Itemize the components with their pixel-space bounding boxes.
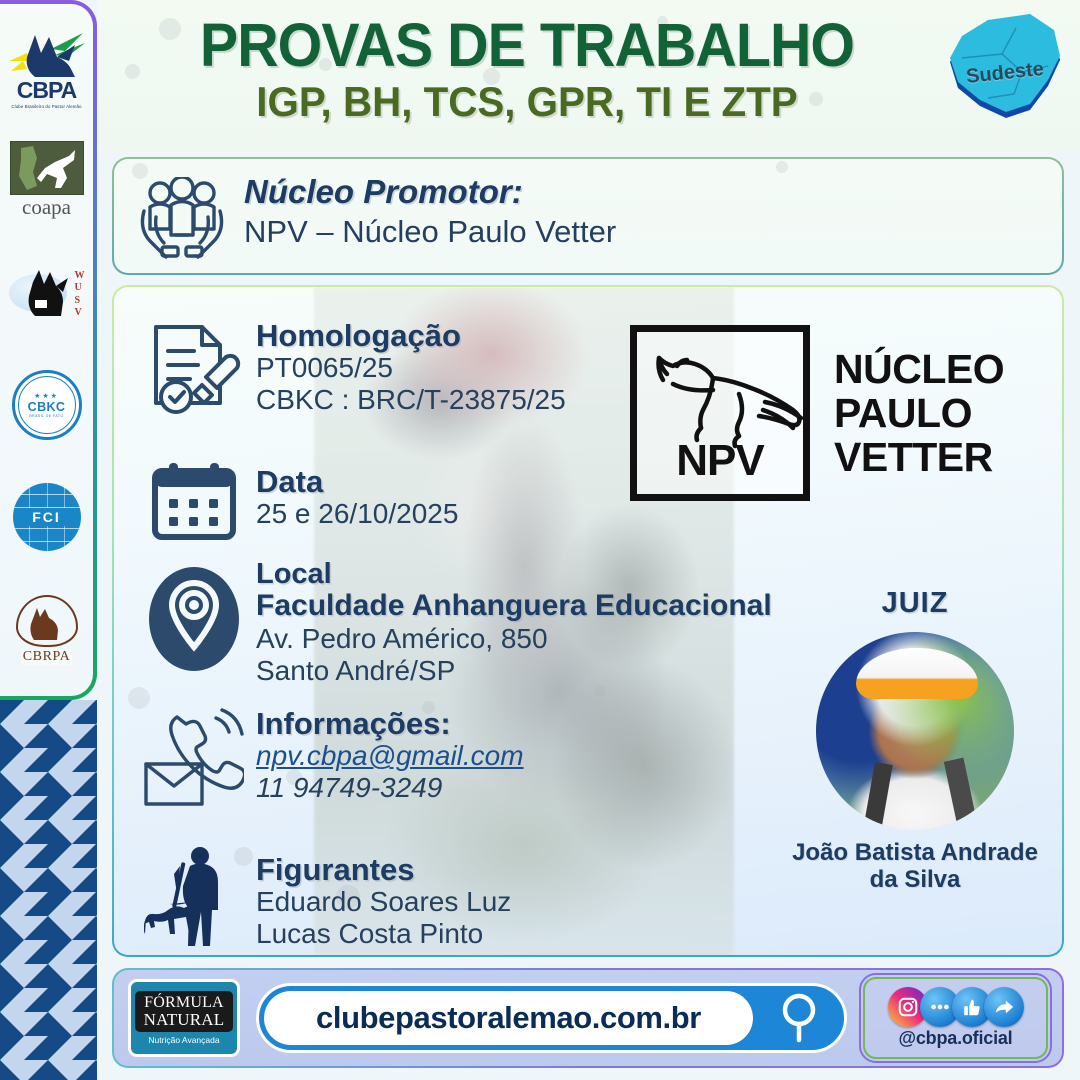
local-label: Local <box>256 559 772 590</box>
judge-block: JUIZ João Batista Andrade da Silva <box>786 587 1044 894</box>
cbrpa-dog-icon <box>25 606 71 644</box>
cbpa-sublabel: Clube Brasileiro do Pastor Alemão <box>5 104 89 109</box>
npv-line1: NÚCLEO <box>834 347 1004 391</box>
npv-logo: NPV NÚCLEO PAULO VETTER <box>630 323 1030 503</box>
promoter-value: NPV – Núcleo Paulo Vetter <box>244 214 616 250</box>
header-title-block: PROVAS DE TRABALHO IGP, BH, TCS, GPR, TI… <box>97 14 957 124</box>
location-pin-icon <box>142 559 246 679</box>
figurantes-label: Figurantes <box>256 853 511 886</box>
judge-strap-left <box>864 762 893 830</box>
sidebar-logos: CBPA Clube Brasileiro do Pastor Alemão c… <box>0 0 97 700</box>
footer-bar: FÓRMULA NATURAL Nutrição Avançada clubep… <box>112 968 1064 1068</box>
sponsor-line1: FÓRMULA <box>137 995 231 1011</box>
group-hands-icon <box>136 177 228 261</box>
sponsor-tagline: Nutrição Avançada <box>148 1035 219 1045</box>
judge-cap <box>856 648 979 699</box>
homologacao-line1: PT0065/25 <box>256 352 566 384</box>
promoter-text: Núcleo Promotor: NPV – Núcleo Paulo Vett… <box>244 173 616 250</box>
cbkc-logo: ★★★ CBKC BRASIL DE FATO <box>6 355 88 455</box>
sponsor-line2: NATURAL <box>137 1011 231 1029</box>
promoter-panel: Núcleo Promotor: NPV – Núcleo Paulo Vett… <box>112 157 1064 275</box>
row-local: Local Faculdade Anhanguera Educacional A… <box>142 559 772 687</box>
npv-dog-outline-icon <box>643 340 803 450</box>
cbpa-dog-head-icon <box>5 27 89 79</box>
cbpa-label: CBPA <box>5 79 89 102</box>
local-address: Av. Pedro Américo, 850 <box>256 623 772 655</box>
cbrpa-logo: CBRPA <box>6 580 88 680</box>
informacoes-label: Informações: <box>256 707 524 740</box>
sponsor-formula-natural-logo: FÓRMULA NATURAL Nutrição Avançada <box>128 979 240 1057</box>
social-icons <box>888 987 1024 1027</box>
local-city: Santo André/SP <box>256 655 772 687</box>
row-homologacao: Homologação PT0065/25 CBKC : BRC/T-23875… <box>142 315 566 423</box>
judge-name: João Batista Andrade da Silva <box>786 840 1044 894</box>
search-icon[interactable] <box>761 992 839 1044</box>
npv-line2: PAULO <box>834 391 1004 435</box>
fci-label: FCI <box>28 508 65 526</box>
social-badge[interactable]: @cbpa.oficial <box>863 977 1048 1059</box>
informacoes-phone: 11 94749-3249 <box>256 772 524 804</box>
local-venue: Faculdade Anhanguera Educacional <box>256 590 772 622</box>
promoter-label: Núcleo Promotor: <box>244 173 616 211</box>
judge-title: JUIZ <box>786 587 1044 620</box>
coapa-logo: coapa <box>6 130 88 230</box>
social-handle: @cbpa.oficial <box>899 1028 1013 1049</box>
judge-strap-right <box>943 757 977 830</box>
wusv-dog-icon <box>13 266 75 322</box>
judge-photo <box>816 632 1014 830</box>
url-input-box[interactable]: clubepastoralemao.com.br <box>264 991 753 1045</box>
homologacao-label: Homologação <box>256 319 566 352</box>
fci-logo: FCI <box>6 467 88 567</box>
npv-mark-text: NPV <box>637 436 803 486</box>
calendar-icon <box>142 459 246 543</box>
share-icon[interactable] <box>984 987 1024 1027</box>
wusv-logo: WUSV <box>6 243 88 343</box>
document-stamp-icon <box>142 315 246 423</box>
cbpa-logo: CBPA Clube Brasileiro do Pastor Alemão <box>6 18 88 118</box>
background-dog-watermark <box>494 467 794 947</box>
phone-mail-icon <box>142 705 246 817</box>
cbrpa-label: CBRPA <box>21 649 73 665</box>
sidebar-geometric-pattern <box>0 700 97 1080</box>
wusv-label: WUSV <box>75 270 85 320</box>
main-details-panel: Homologação PT0065/25 CBKC : BRC/T-23875… <box>112 285 1064 957</box>
region-badge: Sudeste <box>944 14 1066 134</box>
page-title: PROVAS DE TRABALHO <box>123 14 931 76</box>
header: PROVAS DE TRABALHO IGP, BH, TCS, GPR, TI… <box>97 0 1080 152</box>
poster-root: CBPA Clube Brasileiro do Pastor Alemão c… <box>0 0 1080 1080</box>
figurante-2: Lucas Costa Pinto <box>256 918 511 950</box>
row-data: Data 25 e 26/10/2025 <box>142 459 458 543</box>
npv-line3: VETTER <box>834 435 1004 479</box>
judge-name-line1: João Batista Andrade <box>786 840 1044 867</box>
row-figurantes: Figurantes Eduardo Soares Luz Lucas Cost… <box>142 843 511 950</box>
npv-mark: NPV <box>630 325 810 501</box>
npv-words: NÚCLEO PAULO VETTER <box>834 347 1004 480</box>
website-url-bar[interactable]: clubepastoralemao.com.br <box>256 983 847 1053</box>
coapa-map-dog-icon <box>11 142 84 195</box>
homologacao-line2: CBKC : BRC/T-23875/25 <box>256 384 566 416</box>
row-informacoes: Informações: npv.cbpa@gmail.com 11 94749… <box>142 705 524 817</box>
data-label: Data <box>256 465 458 498</box>
zigzag-pattern-icon <box>0 700 97 1080</box>
figurante-1: Eduardo Soares Luz <box>256 886 511 918</box>
page-subtitle: IGP, BH, TCS, GPR, TI E ZTP <box>114 80 940 124</box>
informacoes-email[interactable]: npv.cbpa@gmail.com <box>256 740 524 772</box>
data-value: 25 e 26/10/2025 <box>256 498 458 530</box>
handler-with-dog-icon <box>142 843 246 949</box>
judge-name-line2: da Silva <box>786 867 1044 894</box>
website-url: clubepastoralemao.com.br <box>316 1000 701 1036</box>
coapa-label: coapa <box>10 196 84 219</box>
